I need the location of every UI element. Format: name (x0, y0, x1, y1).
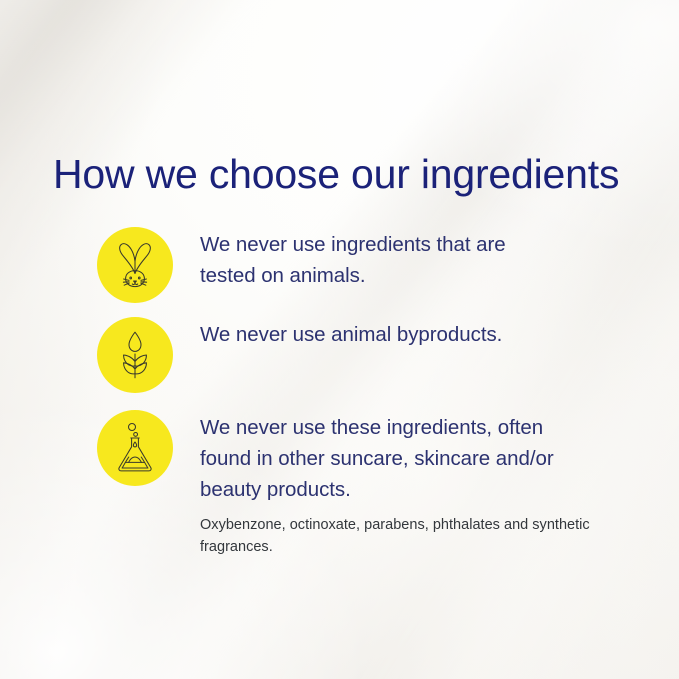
icon-badge-cruelty-free (97, 227, 173, 303)
infographic-canvas: How we choose our ingredients (0, 0, 679, 679)
erlenmeyer-flask-icon (114, 422, 156, 474)
claim-body-no-bad-ingredients: We never use these ingredients, often fo… (173, 410, 600, 558)
claim-text-line: We never use these ingredients, often (200, 416, 543, 439)
page-title: How we choose our ingredients (53, 149, 619, 199)
claim-text-line: found in other suncare, skincare and/or (200, 447, 554, 470)
claim-text: We never use ingredients that are tested… (200, 229, 506, 291)
claim-body-no-animal-byproducts: We never use animal byproducts. (173, 317, 502, 350)
content-layer: How we choose our ingredients (0, 0, 679, 679)
claim-text-line: beauty products. (200, 478, 351, 501)
claim-subtext: Oxybenzone, octinoxate, parabens, phthal… (200, 514, 600, 558)
claim-text: We never use these ingredients, often fo… (200, 412, 600, 505)
icon-badge-plant (97, 317, 173, 393)
claim-text: We never use animal byproducts. (200, 319, 502, 350)
claim-body-cruelty-free: We never use ingredients that are tested… (173, 227, 506, 291)
claim-item-no-bad-ingredients: We never use these ingredients, often fo… (97, 410, 600, 558)
plant-leaf-sprig-icon (115, 330, 155, 380)
claim-item-cruelty-free: We never use ingredients that are tested… (97, 227, 506, 303)
icon-badge-flask (97, 410, 173, 486)
claim-item-no-animal-byproducts: We never use animal byproducts. (97, 317, 502, 393)
bunny-heart-ears-icon (112, 240, 158, 290)
claim-text-line: tested on animals. (200, 264, 365, 287)
claim-text-line: We never use ingredients that are (200, 233, 506, 256)
claim-text-line: We never use animal byproducts. (200, 323, 502, 346)
